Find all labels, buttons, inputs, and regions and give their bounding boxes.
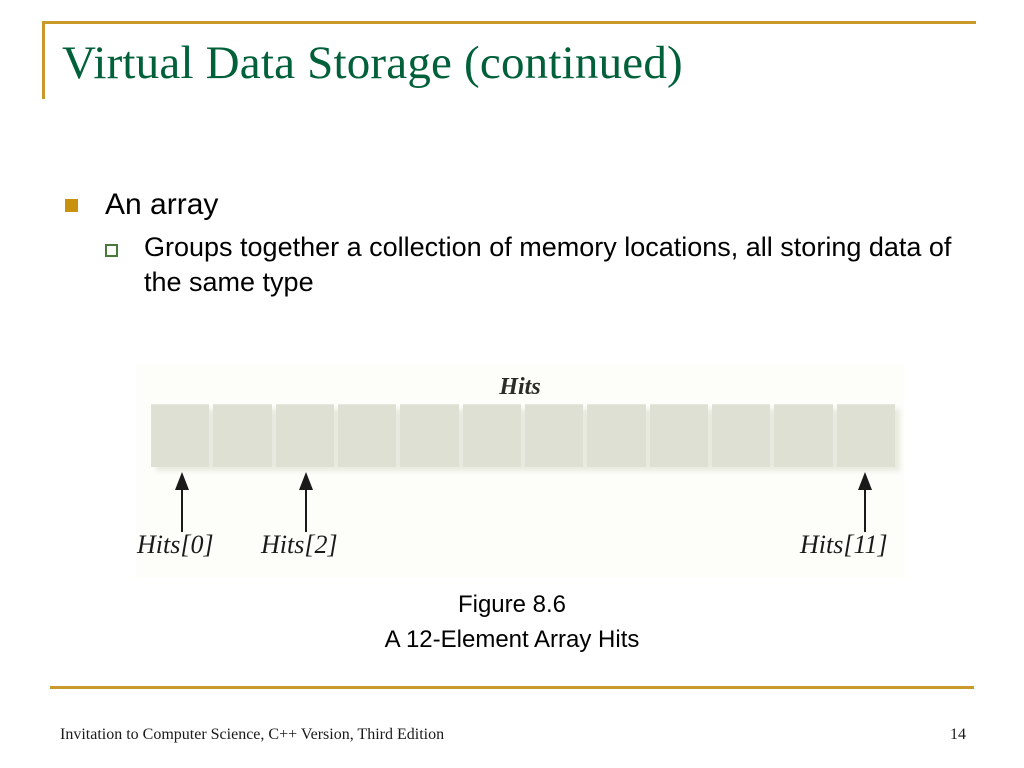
- bullet-level2: Groups together a collection of memory l…: [60, 230, 980, 302]
- title-rule-top: [42, 21, 976, 24]
- array-cell: [400, 404, 458, 467]
- figure-caption-number: Figure 8.6: [0, 588, 1024, 623]
- array-cell: [213, 404, 271, 467]
- array-cell: [151, 404, 209, 467]
- hollow-square-bullet-icon: [105, 244, 118, 257]
- arrow-shaft: [305, 484, 307, 532]
- index-label-2: Hits[2]: [261, 530, 338, 560]
- array-cell: [774, 404, 832, 467]
- array-container: [151, 404, 895, 466]
- title-rule-left: [42, 21, 45, 99]
- bullet-level1-label: An array: [105, 188, 218, 221]
- square-bullet-icon: [65, 199, 78, 212]
- footer-page-number: 14: [950, 726, 966, 744]
- array-name-label: Hits: [135, 374, 905, 401]
- footer-source: Invitation to Computer Science, C++ Vers…: [60, 726, 444, 744]
- array-cell: [650, 404, 708, 467]
- array-cell: [525, 404, 583, 467]
- pointer-arrow-icon: [298, 472, 314, 532]
- array-cell: [837, 404, 895, 467]
- array-cell: [276, 404, 334, 467]
- array-cell: [587, 404, 645, 467]
- array-cells: [151, 404, 895, 466]
- bullet-level1: An array: [60, 186, 980, 224]
- arrow-shaft: [864, 484, 866, 532]
- figure-caption-title: A 12-Element Array Hits: [0, 623, 1024, 658]
- figure-caption: Figure 8.6 A 12-Element Array Hits: [0, 588, 1024, 658]
- footer-rule: [50, 686, 974, 689]
- bullet-level2-label: Groups together a collection of memory l…: [144, 230, 980, 302]
- index-label-11: Hits[11]: [800, 530, 888, 560]
- arrow-shaft: [181, 484, 183, 532]
- slide: Virtual Data Storage (continued) An arra…: [0, 0, 1024, 768]
- index-label-0: Hits[0]: [137, 530, 214, 560]
- pointer-arrow-icon: [174, 472, 190, 532]
- pointer-arrow-icon: [857, 472, 873, 532]
- slide-title: Virtual Data Storage (continued): [62, 36, 962, 90]
- array-cell: [338, 404, 396, 467]
- bullet-list: An array Groups together a collection of…: [60, 186, 980, 301]
- figure-array-diagram: Hits: [135, 364, 905, 578]
- array-cell: [712, 404, 770, 467]
- array-cell: [463, 404, 521, 467]
